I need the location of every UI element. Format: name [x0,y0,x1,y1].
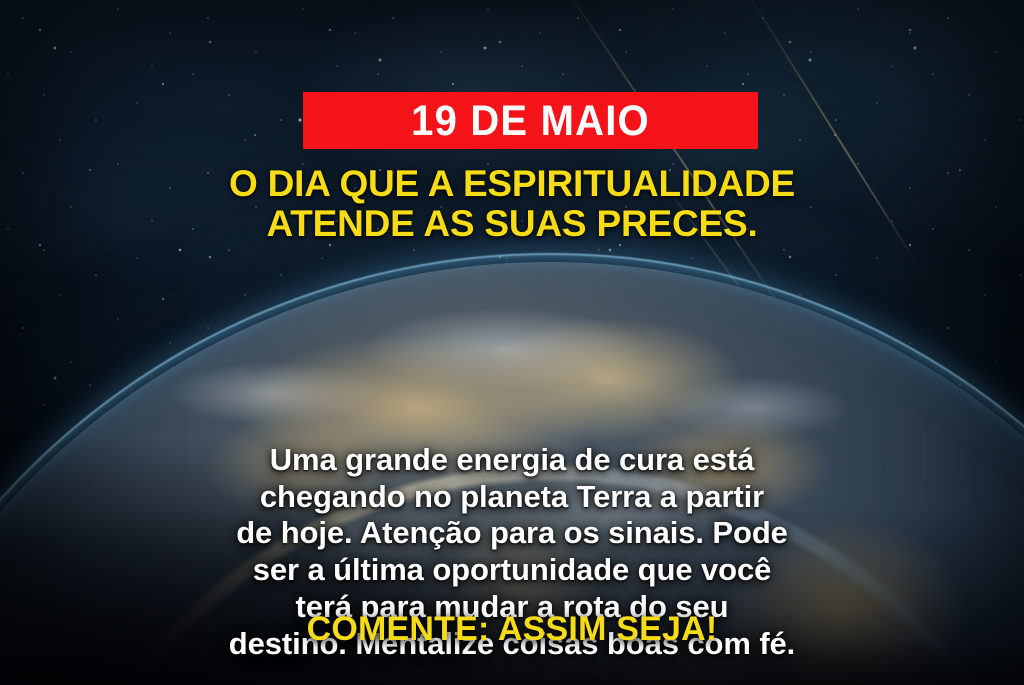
body-line-3: de hoje. Atenção para os sinais. Pode [0,515,1024,552]
body-line-1: Uma grande energia de cura está [0,442,1024,479]
body-line-2: chegando no planeta Terra a partir [0,479,1024,516]
date-banner: 19 DE MAIO [303,92,758,149]
poster-canvas: 19 DE MAIO O DIA QUE A ESPIRITUALIDADE A… [0,0,1024,685]
call-to-action-text: COMENTE: ASSIM SEJA! [0,612,1024,646]
body-line-4: ser a última oportunidade que você [0,552,1024,589]
headline-line-1: O DIA QUE A ESPIRITUALIDADE [0,164,1024,204]
date-banner-label: 19 DE MAIO [411,99,650,141]
poster-content: 19 DE MAIO O DIA QUE A ESPIRITUALIDADE A… [0,0,1024,685]
headline: O DIA QUE A ESPIRITUALIDADE ATENDE AS SU… [0,164,1024,243]
headline-line-2: ATENDE AS SUAS PRECES. [0,204,1024,244]
